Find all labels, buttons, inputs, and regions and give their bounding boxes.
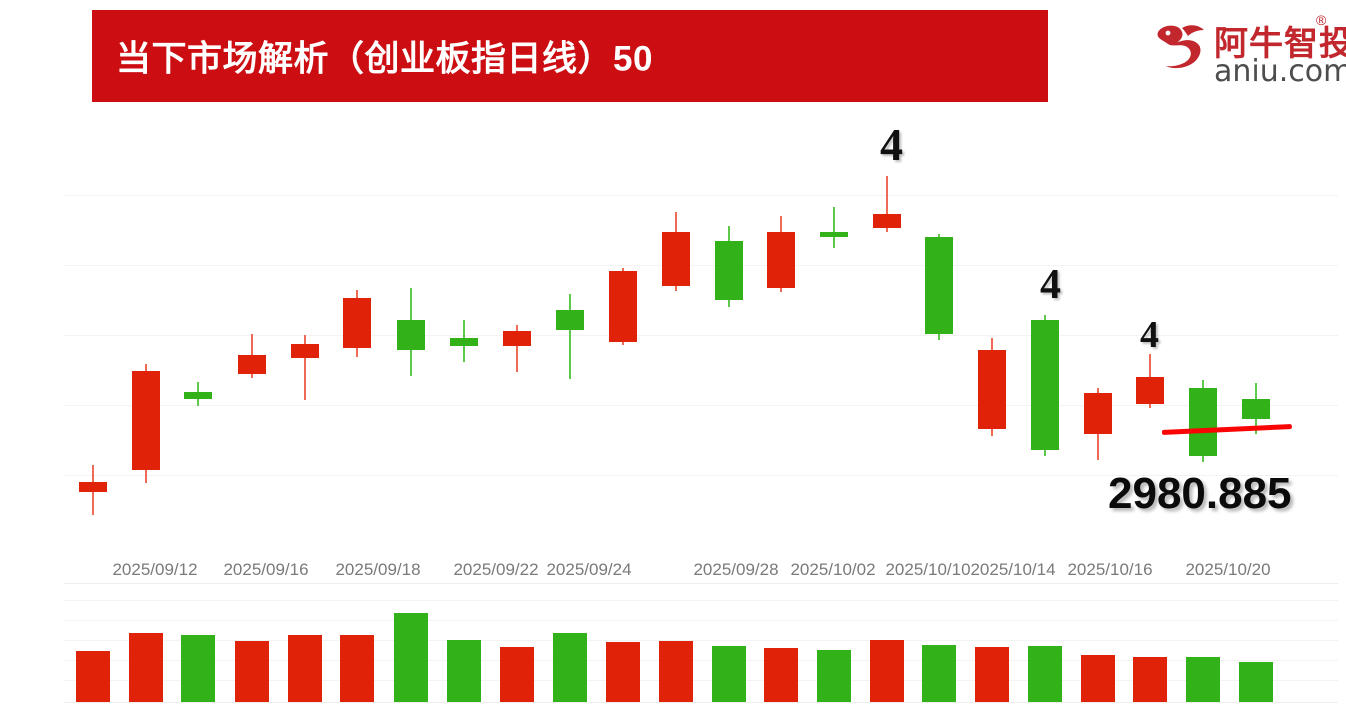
candle — [1031, 315, 1059, 456]
volume-baseline — [64, 702, 1338, 703]
candle-body — [1136, 377, 1164, 404]
axis-separator — [64, 583, 1338, 584]
volume-bar — [975, 647, 1009, 703]
candle-body — [79, 482, 107, 492]
candle — [609, 268, 637, 345]
volume-bar — [1186, 657, 1220, 703]
candle-body — [1031, 320, 1059, 450]
x-axis-tick: 2025/09/22 — [453, 560, 538, 580]
x-axis-tick: 2025/10/10 — [885, 560, 970, 580]
signal-marker-4: 4 — [1140, 316, 1159, 354]
volume-bar — [340, 635, 374, 703]
volume-bar — [1028, 646, 1062, 703]
candle — [184, 382, 212, 406]
x-axis-tick: 2025/09/18 — [335, 560, 420, 580]
volume-bar — [447, 640, 481, 703]
candle-body — [184, 392, 212, 399]
volume-bar — [712, 646, 746, 703]
header-band: 当下市场解析（创业板指日线）50 — [92, 10, 1048, 102]
volume-bar — [1239, 662, 1273, 703]
candle — [1189, 380, 1217, 462]
candle — [873, 176, 901, 232]
candle-body — [978, 350, 1006, 429]
candle — [556, 294, 584, 379]
candle-body — [1189, 388, 1217, 456]
candle — [238, 334, 266, 378]
candle-body — [820, 232, 848, 237]
candle-body — [873, 214, 901, 228]
candle — [291, 335, 319, 400]
candle — [397, 288, 425, 376]
candle-body — [291, 344, 319, 358]
volume-bar — [235, 641, 269, 703]
volume-bar — [76, 651, 110, 703]
candle — [1136, 354, 1164, 408]
candle-body — [238, 355, 266, 374]
aniu-bull-logo-icon — [1152, 18, 1214, 80]
app-root: 当下市场解析（创业板指日线）50 阿牛智投 ® aniu.com 444 298… — [0, 0, 1346, 710]
volume-bar — [181, 635, 215, 703]
candle — [503, 325, 531, 372]
x-axis-tick: 2025/09/12 — [112, 560, 197, 580]
candle-body — [343, 298, 371, 348]
x-axis-tick: 2025/09/16 — [223, 560, 308, 580]
candle — [715, 226, 743, 307]
candle-body — [609, 271, 637, 342]
candle-body — [503, 331, 531, 346]
volume-bar — [764, 648, 798, 703]
x-axis-tick: 2025/10/20 — [1185, 560, 1270, 580]
candle-wick — [569, 294, 571, 379]
candle — [767, 216, 795, 292]
candle — [662, 212, 690, 291]
volume-bar — [1081, 655, 1115, 703]
candle-body — [767, 232, 795, 288]
x-axis-tick: 2025/09/24 — [546, 560, 631, 580]
volume-bar — [129, 633, 163, 703]
logo-domain: aniu.com — [1214, 54, 1346, 89]
volume-bar — [394, 613, 428, 703]
candle-body — [925, 237, 953, 334]
page-title: 当下市场解析（创业板指日线）50 — [116, 31, 653, 82]
signal-marker-4: 4 — [880, 122, 903, 168]
x-axis-tick: 2025/10/14 — [970, 560, 1055, 580]
candle — [343, 290, 371, 357]
gridline — [64, 620, 1338, 621]
candle-body — [556, 310, 584, 330]
volume-bar — [500, 647, 534, 703]
volume-bar — [1133, 657, 1167, 703]
volume-bar — [288, 635, 322, 703]
volume-bar — [553, 633, 587, 703]
candle-body — [132, 371, 160, 470]
candle — [820, 207, 848, 248]
x-axis-tick: 2025/10/16 — [1067, 560, 1152, 580]
volume-bar — [817, 650, 851, 703]
candle — [1084, 388, 1112, 460]
x-axis-tick: 2025/09/28 — [693, 560, 778, 580]
candle-body — [1242, 399, 1270, 419]
candle — [978, 338, 1006, 436]
brand-logo: 阿牛智投 ® aniu.com — [1152, 8, 1338, 92]
candle-body — [397, 320, 425, 350]
volume-chart-panel — [64, 588, 1338, 703]
candle-body — [715, 241, 743, 300]
volume-bar — [659, 641, 693, 703]
gridline — [64, 265, 1338, 266]
candle-body — [450, 338, 478, 346]
signal-marker-4: 4 — [1040, 264, 1061, 306]
volume-bar — [870, 640, 904, 703]
candle — [450, 320, 478, 362]
registered-trademark-icon: ® — [1316, 12, 1326, 28]
candle-body — [662, 232, 690, 286]
candle-body — [1084, 393, 1112, 434]
last-price-label: 2980.885 — [1108, 472, 1292, 516]
candle — [132, 364, 160, 483]
volume-bar — [606, 642, 640, 703]
gridline — [64, 600, 1338, 601]
candle-wick — [833, 207, 835, 248]
candle — [79, 465, 107, 515]
volume-bar — [922, 645, 956, 703]
x-axis-tick: 2025/10/02 — [790, 560, 875, 580]
gridline — [64, 195, 1338, 196]
candle — [925, 234, 953, 340]
